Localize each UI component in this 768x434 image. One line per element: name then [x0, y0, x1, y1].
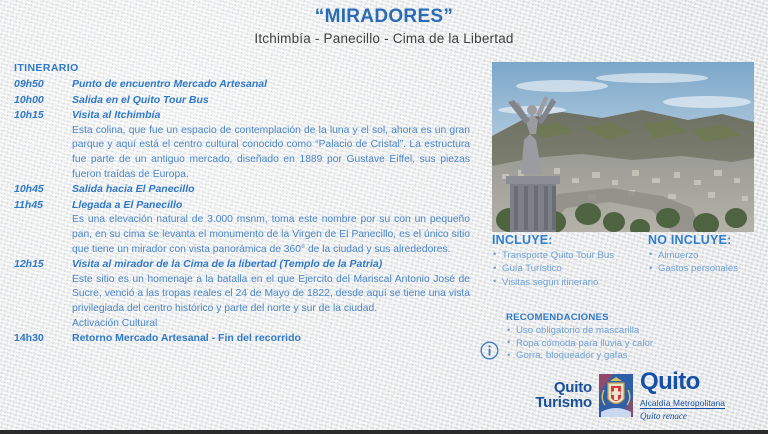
recomendaciones-heading: RECOMENDACIONES	[506, 312, 756, 323]
page-title: “MIRADORES”	[0, 7, 768, 28]
no-incluye-column: NO INCLUYE: Almuerzo Gastos personales	[648, 234, 760, 290]
poster-header: “MIRADORES” Itchimbía - Panecillo - Cima…	[0, 7, 768, 46]
incluye-list: Transporte Quito Tour Bus Guía Turístico…	[492, 250, 638, 289]
itinerary-paragraph-itchimbia: Esta colina, que fue un espacio de conte…	[72, 124, 474, 182]
includes-section: INCLUYE: Transporte Quito Tour Bus Guía …	[492, 234, 760, 290]
quito-turismo-line1: Quito	[520, 380, 592, 395]
itinerary-activacion-cultural: Activación Cultural	[72, 317, 474, 332]
itinerary-time: 14h30	[14, 331, 72, 347]
itinerary-row: 14h30 Retorno Mercado Artesanal - Fin de…	[14, 331, 474, 347]
itinerary-time: 10h45	[14, 182, 72, 198]
itinerary-row: 10h45 Salida hacia El Panecillo	[14, 182, 474, 198]
incluye-heading: INCLUYE:	[492, 234, 638, 248]
list-item: Almuerzo	[648, 250, 760, 262]
itinerary-row: 10h15 Visita al Itchimbía	[14, 108, 474, 124]
page-subtitle: Itchimbía - Panecillo - Cima de la Liber…	[0, 31, 768, 47]
itinerary-row: 09h50 Punto de encuentro Mercado Artesan…	[14, 77, 474, 93]
list-item: Gorra, bloqueador y gafas	[506, 350, 756, 363]
quito-turismo-logo: Quito Turismo	[520, 380, 592, 410]
itinerary-desc: Llegada a El Panecillo	[72, 198, 474, 214]
recomendaciones-section: RECOMENDACIONES Uso obligatorio de masca…	[506, 312, 756, 363]
logos-footer: Quito Turismo Quito Alcaldía Metropolita…	[520, 366, 764, 424]
panecillo-photo	[492, 62, 754, 232]
no-incluye-heading: NO INCLUYE:	[648, 234, 760, 248]
list-item: Uso obligatorio de mascarilla	[506, 325, 756, 338]
itinerary-row: 10h00 Salida en el Quito Tour Bus	[14, 93, 474, 109]
itinerary-paragraph-cima: Este sitio es un homenaje a la batalla e…	[72, 273, 474, 317]
itinerary-desc: Salida hacia El Panecillo	[72, 182, 474, 198]
list-item: Gastos personales	[648, 263, 760, 275]
itinerary-time: 11h45	[14, 198, 72, 214]
itinerary-desc: Salida en el Quito Tour Bus	[72, 93, 474, 109]
list-item: Transporte Quito Tour Bus	[492, 250, 638, 262]
panecillo-photo-illustration	[492, 62, 754, 232]
no-incluye-list: Almuerzo Gastos personales	[648, 250, 760, 276]
list-item: Visitas según itinerario	[492, 277, 638, 289]
itinerary-desc: Punto de encuentro Mercado Artesanal	[72, 77, 474, 93]
recomendaciones-list: Uso obligatorio de mascarilla Ropa cómod…	[506, 325, 756, 363]
itinerary-section: ITINERARIO 09h50 Punto de encuentro Merc…	[14, 62, 474, 347]
itinerary-time: 10h15	[14, 108, 72, 124]
itinerary-desc: Visita al Itchimbía	[72, 108, 474, 124]
itinerary-desc: Retorno Mercado Artesanal - Fin del reco…	[72, 331, 474, 347]
itinerary-row: 11h45 Llegada a El Panecillo	[14, 198, 474, 214]
itinerary-time: 12h15	[14, 257, 72, 273]
quito-coat-of-arms-icon	[599, 374, 633, 417]
municipio-quito-logo: Quito Alcaldía Metropolitana Quito renac…	[640, 370, 725, 421]
itinerary-row: 12h15 Visita al mirador de la Cima de la…	[14, 257, 474, 273]
list-item: Ropa cómoda para lluvia y calor	[506, 338, 756, 351]
itinerary-time: 10h00	[14, 93, 72, 109]
info-icon	[480, 341, 499, 360]
itinerary-paragraph-panecillo: Es una elevación natural de 3.000 msnm, …	[72, 213, 474, 257]
list-item: Guía Turístico	[492, 263, 638, 275]
municipio-name: Quito	[640, 370, 725, 394]
itinerary-desc: Visita al mirador de la Cima de la liber…	[72, 257, 474, 273]
municipio-slogan: Quito renace	[640, 412, 725, 421]
poster-page: “MIRADORES” Itchimbía - Panecillo - Cima…	[0, 0, 768, 434]
itinerary-heading: ITINERARIO	[14, 62, 474, 74]
incluye-column: INCLUYE: Transporte Quito Tour Bus Guía …	[492, 234, 638, 290]
itinerary-time: 09h50	[14, 77, 72, 93]
municipio-subtitle: Alcaldía Metropolitana	[640, 399, 725, 409]
quito-turismo-line2: Turismo	[520, 395, 592, 410]
